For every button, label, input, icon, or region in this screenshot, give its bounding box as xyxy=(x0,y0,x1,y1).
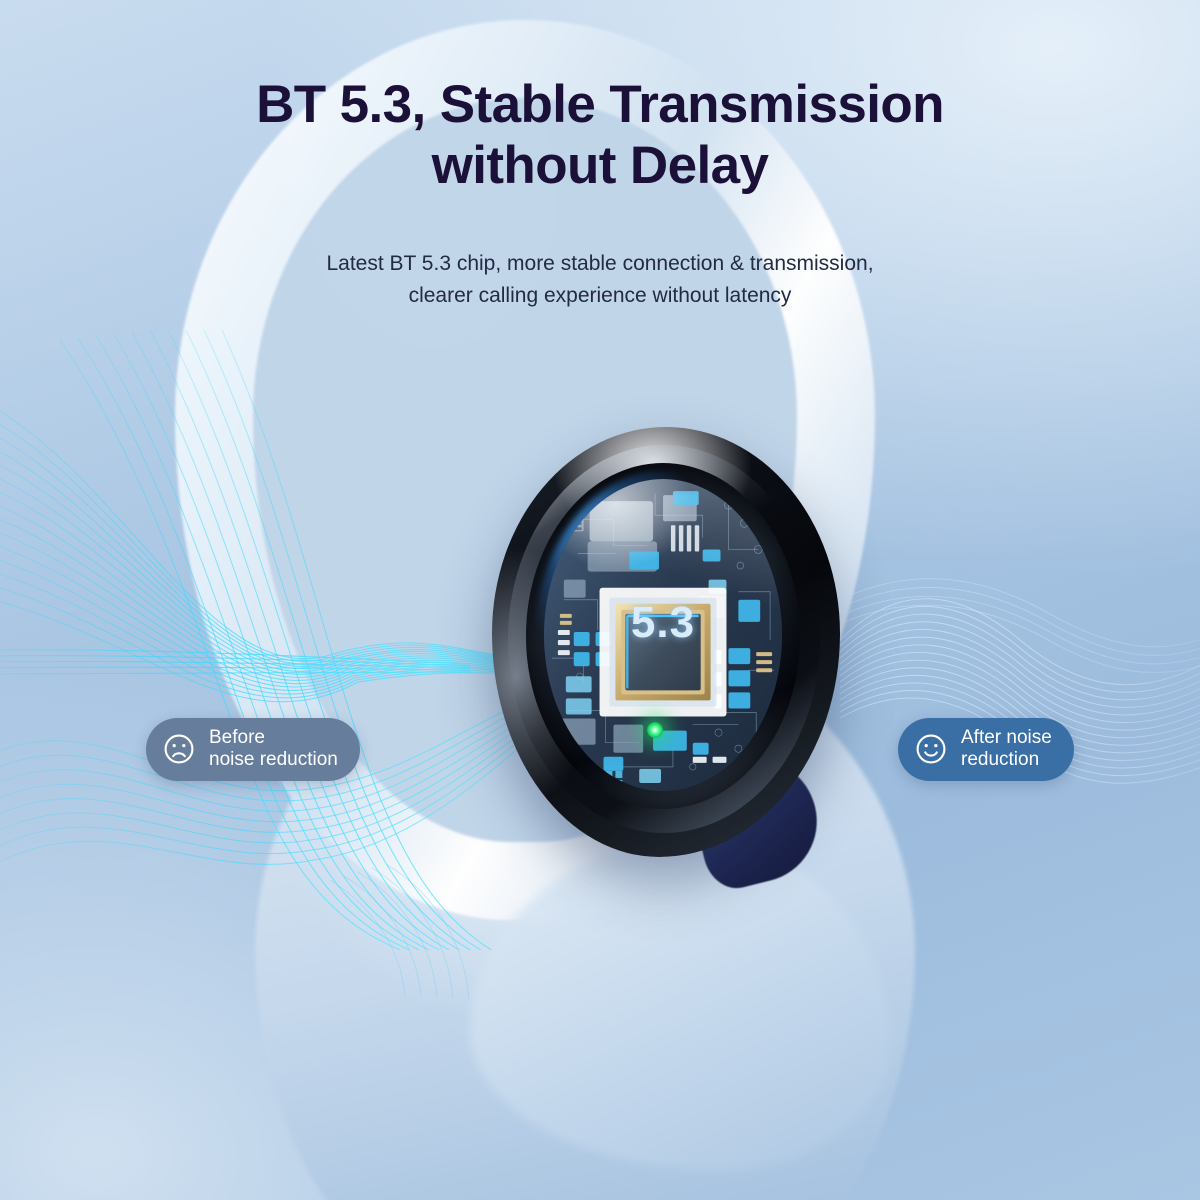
badge-after-line-2: reduction xyxy=(961,749,1052,771)
noisy-waveform-left xyxy=(0,330,560,968)
subcopy-line-1: Latest BT 5.3 chip, more stable connecti… xyxy=(326,252,873,275)
badge-after-noise-reduction: After noise reduction xyxy=(898,718,1074,781)
badge-before-line-1: Before xyxy=(209,727,338,749)
earbud-transparent-window: 5.3 xyxy=(544,479,782,791)
subcopy-line-2: clearer calling experience without laten… xyxy=(409,284,792,307)
earbud-product-image: 5.3 xyxy=(492,427,840,857)
badge-before-noise-reduction: Before noise reduction xyxy=(146,718,360,781)
smiley-face-icon xyxy=(914,732,948,766)
product-feature-poster: 5.3 BT 5.3, Stable Transmission without … xyxy=(0,0,1200,1200)
page-subtitle: Latest BT 5.3 chip, more stable connecti… xyxy=(0,248,1200,311)
headline-line-1: BT 5.3, Stable Transmission xyxy=(256,75,944,134)
badge-after-line-1: After noise xyxy=(961,727,1052,749)
badge-before-line-2: noise reduction xyxy=(209,749,338,771)
circuit-board-graphic xyxy=(544,479,782,791)
sad-face-icon xyxy=(162,732,196,766)
headline-line-2: without Delay xyxy=(432,136,769,195)
page-title: BT 5.3, Stable Transmission without Dela… xyxy=(0,74,1200,197)
badge-before-label: Before noise reduction xyxy=(209,727,338,772)
badge-after-label: After noise reduction xyxy=(961,727,1052,772)
